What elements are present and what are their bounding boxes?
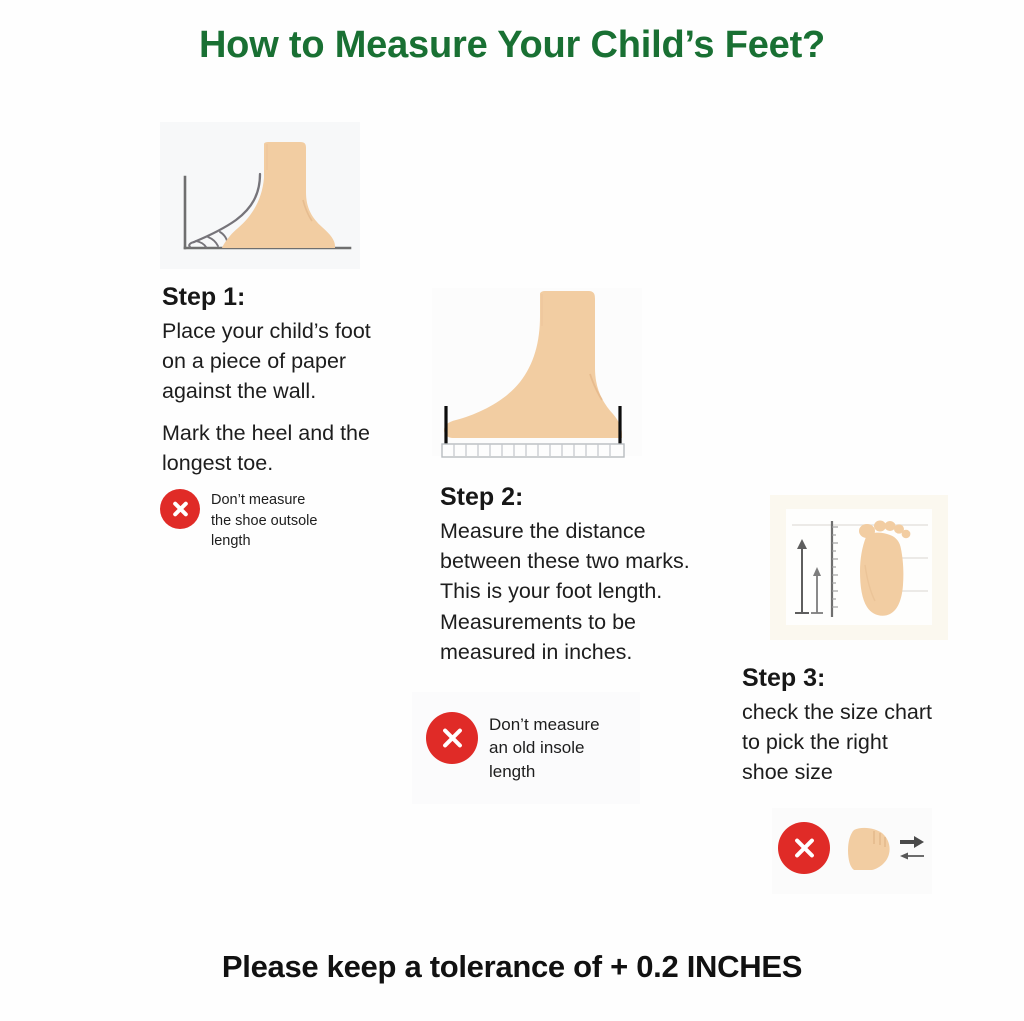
step-2-heading: Step 2:: [440, 483, 740, 512]
foot-side-with-ruler-icon: [430, 286, 644, 458]
infographic-canvas: How to Measure Your Child’s Feet? Step 1…: [0, 0, 1024, 1021]
foot-sole-on-size-chart-icon: [770, 495, 948, 640]
tolerance-note: Please keep a tolerance of + 0.2 INCHES: [0, 949, 1024, 985]
red-x-circle-icon: [160, 489, 200, 529]
page-title: How to Measure Your Child’s Feet?: [0, 24, 1024, 67]
step-3-text-block: Step 3: check the size chart to pick the…: [742, 664, 967, 788]
step-2-body-primary: Measure the distance between these two m…: [440, 516, 740, 668]
step-2-text-block: Step 2: Measure the distance between the…: [440, 483, 740, 667]
step-1-body-secondary: Mark the heel and the longest toe.: [162, 418, 390, 479]
foot-with-arrows-icon: [844, 820, 938, 876]
step-1-text-block: Step 1: Place your child’s foot on a pie…: [162, 283, 390, 478]
step-3-warning: [778, 820, 938, 876]
red-x-circle-icon: [778, 822, 830, 874]
step-1-heading: Step 1:: [162, 283, 390, 312]
step-2-warning-text: Don’t measure an old insole length: [489, 712, 600, 783]
step-1-warning-text: Don’t measure the shoe outsole length: [211, 489, 317, 552]
foot-side-against-wall-icon: [160, 122, 360, 269]
step-1-warning: Don’t measure the shoe outsole length: [160, 489, 375, 552]
step-1-body-primary: Place your child’s foot on a piece of pa…: [162, 316, 390, 407]
red-x-circle-icon: [426, 712, 478, 764]
step-3-heading: Step 3:: [742, 664, 967, 693]
step-2-warning: Don’t measure an old insole length: [426, 712, 646, 783]
step-3-body-primary: check the size chart to pick the right s…: [742, 697, 967, 788]
